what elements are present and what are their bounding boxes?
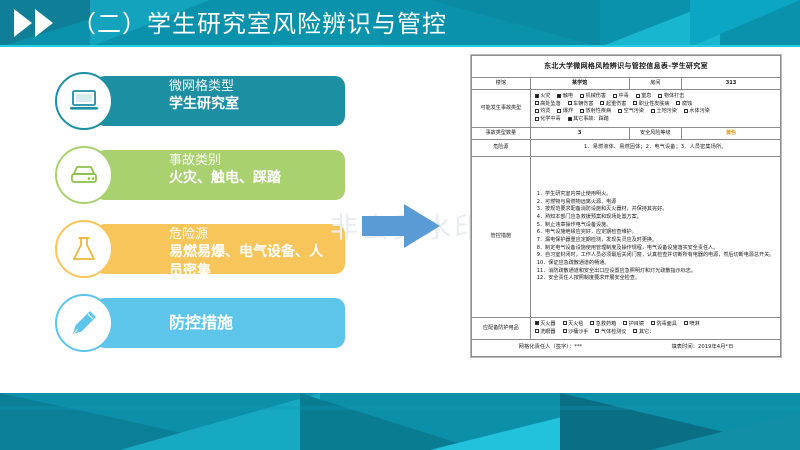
checkbox-empty-icon <box>563 321 567 325</box>
ppe-checkbox-rows: 灭火器灭火毯急救药箱护目镜防毒面具喷淋洗眼器沙桶沙手气体检测仪其它： <box>535 321 776 336</box>
list-item-accident-category[interactable]: 事故类别 火灾、触电、踩踏 <box>55 146 345 204</box>
triangle-icon-left <box>14 9 32 37</box>
building-label: 楼馆 <box>472 77 531 90</box>
header-polygon-3 <box>430 0 600 47</box>
checkbox-option[interactable]: 灭火器 <box>535 321 556 329</box>
checkbox-option[interactable]: 机械伤害 <box>580 93 606 101</box>
checkbox-option[interactable]: 火灾 <box>535 93 551 101</box>
checkbox-empty-icon <box>658 94 662 98</box>
checkbox-label: 物体打击 <box>664 93 684 99</box>
measure-line: 4．熟知本部门应急救援预案和现场处置方案。 <box>537 214 774 222</box>
checkbox-label: 喷淋 <box>689 321 699 327</box>
footer-polygon-6 <box>650 412 800 450</box>
risk-level-label: 安全风险等级 <box>629 127 682 140</box>
footer-polygon-2 <box>120 393 320 450</box>
item-line2: 学生研究室 <box>169 95 335 114</box>
list-item-control-measures[interactable]: 防控措施 <box>55 294 345 352</box>
checkbox-empty-icon <box>651 321 655 325</box>
measure-line: 7．漏电保护器重应定期检测，发现失灵应及时更换。 <box>537 237 774 245</box>
checkbox-label: 化学中毒 <box>540 116 560 122</box>
checkbox-empty-icon <box>676 101 680 105</box>
checkbox-empty-icon <box>563 329 567 333</box>
checkbox-empty-icon <box>636 94 640 98</box>
checkbox-label: 水体污染 <box>689 108 709 114</box>
room-value: 313 <box>682 77 781 90</box>
checkbox-label: 职业性皮肤病 <box>639 101 670 107</box>
risk-info-table: 东北大学微网格风险辨识与管控信息表-学生研究室 楼馆 某学馆 房间 313 可能… <box>471 55 781 357</box>
checkbox-label: 车辆伤害 <box>573 101 593 107</box>
laptop-icon <box>55 72 113 130</box>
flask-icon <box>55 220 113 278</box>
checkbox-empty-icon <box>535 101 539 105</box>
checkbox-empty-icon <box>623 321 627 325</box>
checkbox-empty-icon <box>651 109 655 113</box>
measures-lines: 1．学生研究室内禁止使用明火。2．可燃物与易燃物远离火源、电源3．按规范要求配备… <box>537 191 774 283</box>
slide-footer-decoration <box>0 393 800 450</box>
checkbox-option[interactable]: 喷淋 <box>684 321 700 329</box>
checkbox-option[interactable]: 中毒 <box>613 93 629 101</box>
checkbox-option[interactable]: 防毒面具 <box>651 321 677 329</box>
checkbox-option[interactable]: 爆炸 <box>557 108 573 116</box>
checkbox-label: 触电 <box>563 93 573 99</box>
pencil-icon <box>55 294 113 352</box>
scanner-device-icon <box>55 146 113 204</box>
checkbox-label: 起重伤害 <box>606 101 626 107</box>
checkbox-label: 沙桶沙手 <box>568 329 588 335</box>
slide-header: （二）学生研究室风险辨识与管控 <box>0 0 800 47</box>
checkbox-option[interactable]: 急救药箱 <box>590 321 616 329</box>
risk-level-value: 黄色 <box>682 127 781 140</box>
right-arrow-icon <box>362 204 440 248</box>
measure-line: 6．电气设施绝缘应完好，应定期检查维护。 <box>537 229 774 237</box>
table-row-count-risk: 事故类型数量 3 安全风险等级 黄色 <box>472 127 781 140</box>
item-line1: 防控措施 <box>169 300 335 346</box>
checkbox-label: 机械伤害 <box>586 93 606 99</box>
checkbox-empty-icon <box>595 329 599 333</box>
risk-info-table-panel: 东北大学微网格风险辨识与管控信息表-学生研究室 楼馆 某学馆 房间 313 可能… <box>470 54 782 358</box>
checkbox-empty-icon <box>568 101 572 105</box>
measures-label: 管控措施 <box>472 156 531 317</box>
checkbox-option[interactable]: 水体污染 <box>684 108 710 116</box>
checkbox-checked-icon <box>568 117 572 121</box>
info-item-list: 微网格类型 学生研究室 事故类别 火灾、触电、踩踏 <box>55 72 345 368</box>
checkbox-checked-icon <box>535 94 539 98</box>
table-row-accident-types: 可能发生事故类型 火灾触电机械伤害中毒窒息物体打击高处坠落车辆伤害起重伤害职业性… <box>472 90 781 128</box>
item-line1: 危险源 <box>169 226 335 243</box>
checkbox-empty-icon <box>684 109 688 113</box>
checkbox-option[interactable]: 沙桶沙手 <box>563 329 589 337</box>
checkbox-option[interactable]: 放射性疾病 <box>580 108 611 116</box>
checkbox-empty-icon <box>580 109 584 113</box>
fill-date-label: 填表时间：2019年4月*日 <box>671 344 733 352</box>
checkbox-label: 窒息 <box>641 93 651 99</box>
item-line2: 易燃易爆、电气设备、人员密集 <box>169 243 335 281</box>
checkbox-row: 化学中毒其它事故：踩踏 <box>535 116 776 124</box>
checkbox-empty-icon <box>535 109 539 113</box>
accident-count-label: 事故类型数量 <box>472 127 531 140</box>
checkbox-label: 爆炸 <box>563 108 573 114</box>
checkbox-row: 灼烫爆炸放射性疾病空气污染土地污染水体污染 <box>535 108 776 116</box>
arrow-shaft <box>362 216 406 236</box>
item-text-block: 危险源 易燃易爆、电气设备、人员密集 <box>169 226 335 281</box>
checkbox-option[interactable]: 土地污染 <box>651 108 677 116</box>
checkbox-label: 中毒 <box>619 93 629 99</box>
table-row-footer: 网格化责任人（签字）：*** 填表时间：2019年4月*日 <box>472 340 781 357</box>
measure-line: 1．学生研究室内禁止使用明火。 <box>537 191 774 199</box>
checkbox-empty-icon <box>535 117 539 121</box>
slide-canvas: （二）学生研究室风险辨识与管控 微网格类型 学生研究室 <box>0 0 800 450</box>
checkbox-label: 其它事故：踩踏 <box>573 116 609 122</box>
triangle-icon-right <box>35 9 53 37</box>
accident-checkbox-rows: 火灾触电机械伤害中毒窒息物体打击高处坠落车辆伤害起重伤害职业性皮肤病腐蚀灼烫爆炸… <box>535 93 776 124</box>
checkbox-label: 灭火器 <box>540 321 555 327</box>
checkbox-label: 灼烫 <box>540 108 550 114</box>
accident-type-checkbox-group[interactable]: 火灾触电机械伤害中毒窒息物体打击高处坠落车辆伤害起重伤害职业性皮肤病腐蚀灼烫爆炸… <box>530 90 780 128</box>
header-polygon-5 <box>690 0 800 47</box>
checkbox-option[interactable]: 触电 <box>557 93 573 101</box>
checkbox-label: 其它： <box>639 329 654 335</box>
accident-type-label: 可能发生事故类型 <box>472 90 531 128</box>
item-text-block: 防控措施 <box>169 300 335 346</box>
measure-line: 10．保证应急疏散通道的畅通。 <box>537 260 774 268</box>
checkbox-empty-icon <box>535 329 539 333</box>
measures-list: 1．学生研究室内禁止使用明火。2．可燃物与易燃物远离火源、电源3．按规范要求配备… <box>530 156 780 317</box>
list-item-micro-grid-type[interactable]: 微网格类型 学生研究室 <box>55 72 345 130</box>
checkbox-option[interactable]: 其它： <box>633 329 654 337</box>
room-label: 房间 <box>629 77 682 90</box>
table-title: 东北大学微网格风险辨识与管控信息表-学生研究室 <box>472 56 781 78</box>
checkbox-label: 放射性疾病 <box>586 108 611 114</box>
checkbox-empty-icon <box>618 109 622 113</box>
checkbox-label: 防毒面具 <box>656 321 676 327</box>
item-text-block: 事故类别 火灾、触电、踩踏 <box>169 152 335 188</box>
checkbox-label: 气体检测仪 <box>601 329 626 335</box>
item-line1: 微网格类型 <box>169 78 335 95</box>
table-row-location: 楼馆 某学馆 房间 313 <box>472 77 781 90</box>
arrow-head <box>404 204 440 248</box>
signer-label: 网格化责任人（签字）：*** <box>519 344 583 352</box>
checkbox-empty-icon <box>633 329 637 333</box>
checkbox-label: 土地污染 <box>656 108 676 114</box>
double-triangle-play-icon <box>14 9 60 38</box>
checkbox-checked-icon <box>535 321 539 325</box>
item-line1: 事故类别 <box>169 152 335 169</box>
list-item-hazard-source[interactable]: 危险源 易燃易爆、电气设备、人员密集 <box>55 220 345 278</box>
checkbox-label: 护目镜 <box>629 321 644 327</box>
checkbox-empty-icon <box>580 94 584 98</box>
measure-line: 9．自习室封闭时，工作人员必须最后关闭门窗，认真检查并切断所有电器的电源，然后切… <box>537 252 774 260</box>
table-row-title: 东北大学微网格风险辨识与管控信息表-学生研究室 <box>472 56 781 78</box>
checkbox-empty-icon <box>557 109 561 113</box>
checkbox-option[interactable]: 其它事故：踩踏 <box>568 116 609 124</box>
checkbox-row: 火灾触电机械伤害中毒窒息物体打击 <box>535 93 776 101</box>
checkbox-option[interactable]: 物体打击 <box>658 93 684 101</box>
checkbox-empty-icon <box>684 321 688 325</box>
ppe-checkbox-group[interactable]: 灭火器灭火毯急救药箱护目镜防毒面具喷淋洗眼器沙桶沙手气体检测仪其它： <box>530 317 780 339</box>
header-underline <box>0 45 800 47</box>
item-text-block: 微网格类型 学生研究室 <box>169 78 335 114</box>
checkbox-option[interactable]: 灭火毯 <box>563 321 584 329</box>
checkbox-label: 急救药箱 <box>596 321 616 327</box>
checkbox-option[interactable]: 空气污染 <box>618 108 644 116</box>
checkbox-option[interactable]: 气体检测仪 <box>595 329 626 337</box>
checkbox-label: 腐蚀 <box>682 101 692 107</box>
item-line2: 火灾、触电、踩踏 <box>169 169 335 188</box>
checkbox-label: 空气污染 <box>624 108 644 114</box>
building-value: 某学馆 <box>530 77 629 90</box>
checkbox-option[interactable]: 灼烫 <box>535 108 551 116</box>
checkbox-option[interactable]: 化学中毒 <box>535 116 561 124</box>
footer-stripe <box>0 406 800 410</box>
checkbox-row: 灭火器灭火毯急救药箱护目镜防毒面具喷淋 <box>535 321 776 329</box>
checkbox-label: 灭火毯 <box>568 321 583 327</box>
page-title: （二）学生研究室风险辨识与管控 <box>72 4 447 44</box>
hazard-source-value: 1．易燃液体、易燃固体；2．电气设备；3．人员密集场所。 <box>530 140 780 157</box>
ppe-label: 应配备防护用品 <box>472 317 531 339</box>
checkbox-row: 洗眼器沙桶沙手气体检测仪其它： <box>535 329 776 337</box>
checkbox-empty-icon <box>633 101 637 105</box>
checkbox-option[interactable]: 洗眼器 <box>535 329 556 337</box>
footer-cell: 网格化责任人（签字）：*** 填表时间：2019年4月*日 <box>472 340 781 357</box>
measure-line: 12．安全责任人按照制度要求开展安全检查。 <box>537 275 774 283</box>
checkbox-option[interactable]: 窒息 <box>636 93 652 101</box>
checkbox-empty-icon <box>613 94 617 98</box>
checkbox-checked-icon <box>557 94 561 98</box>
checkbox-option[interactable]: 护目镜 <box>623 321 644 329</box>
checkbox-label: 洗眼器 <box>540 329 555 335</box>
table-row-hazard-source: 危险源 1．易燃液体、易燃固体；2．电气设备；3．人员密集场所。 <box>472 140 781 157</box>
table-row-measures: 管控措施 1．学生研究室内禁止使用明火。2．可燃物与易燃物远离火源、电源3．按规… <box>472 156 781 317</box>
checkbox-empty-icon <box>600 101 604 105</box>
checkbox-label: 火灾 <box>540 93 550 99</box>
checkbox-label: 高处坠落 <box>540 101 560 107</box>
accident-count-value: 3 <box>530 127 629 140</box>
checkbox-empty-icon <box>590 321 594 325</box>
measure-line: 3．按规范要求配备消防设施和灭火器材，并保持其完好。 <box>537 206 774 214</box>
table-row-ppe: 应配备防护用品 灭火器灭火毯急救药箱护目镜防毒面具喷淋洗眼器沙桶沙手气体检测仪其… <box>472 317 781 339</box>
hazard-source-label: 危险源 <box>472 140 531 157</box>
